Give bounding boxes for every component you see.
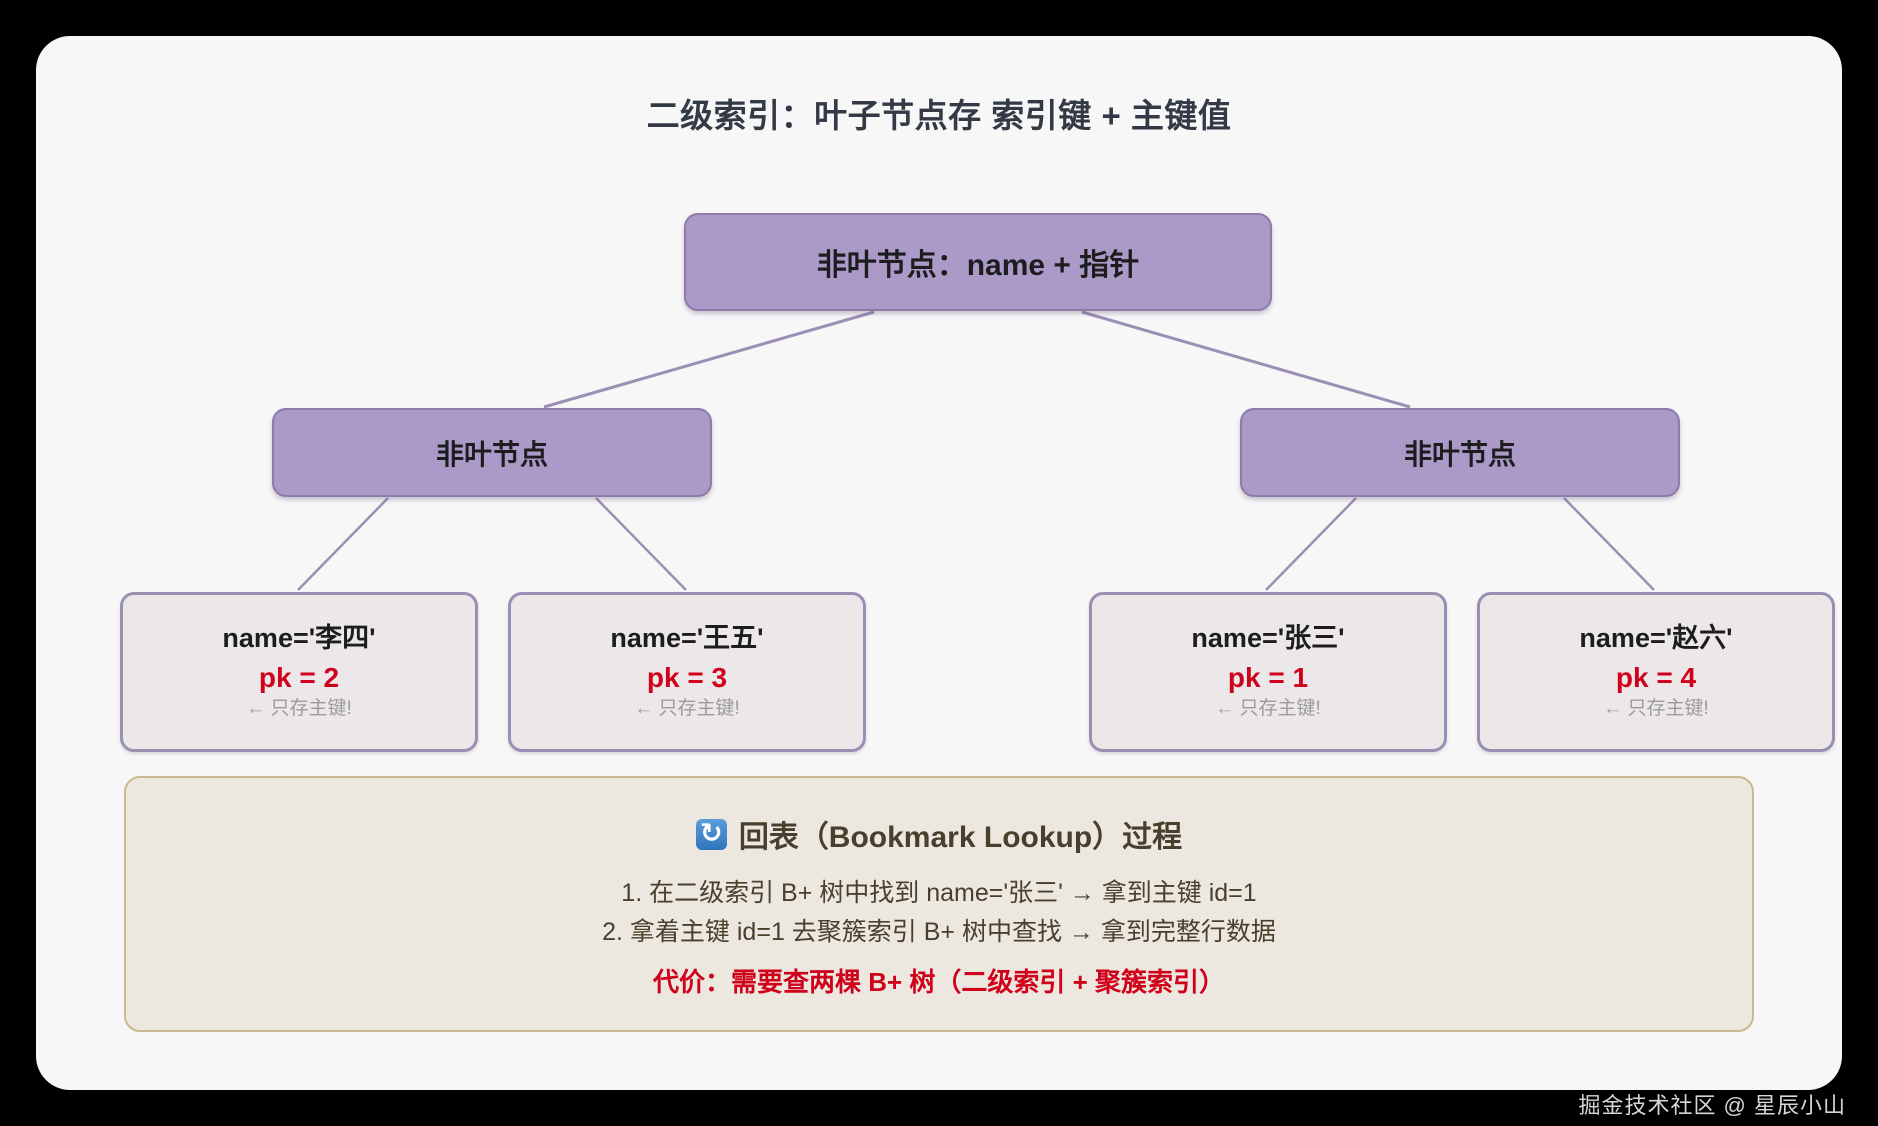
watermark: 掘金技术社区 @ 星辰小山 [1578,1088,1846,1120]
tree-node-branch-right[interactable]: 非叶节点 [1240,408,1680,497]
leaf-node[interactable]: name='赵六' pk = 4 ← 只存主键! [1477,592,1835,752]
leaf-node-note: ← 只存主键! [1215,699,1321,720]
lookup-step: 2. 拿着主键 id=1 去聚簇索引 B+ 树中查找 → 拿到完整行数据 [602,913,1276,952]
screenshot-canvas: 二级索引：叶子节点存 索引键 + 主键值 非叶节点：name + 指针 非叶节点… [0,0,1878,1126]
cycle-icon [696,819,727,850]
leaf-node[interactable]: name='李四' pk = 2 ← 只存主键! [120,592,478,752]
bookmark-lookup-panel: 回表（Bookmark Lookup）过程 1. 在二级索引 B+ 树中找到 n… [124,776,1754,1032]
bookmark-lookup-heading: 回表（Bookmark Lookup）过程 [696,812,1182,856]
bookmark-lookup-heading-label: 回表（Bookmark Lookup）过程 [739,812,1182,856]
diagram-card: 二级索引：叶子节点存 索引键 + 主键值 非叶节点：name + 指针 非叶节点… [36,36,1842,1090]
tree-node-branch-left-label: 非叶节点 [436,433,548,473]
leaf-node[interactable]: name='张三' pk = 1 ← 只存主键! [1089,592,1447,752]
leaf-node[interactable]: name='王五' pk = 3 ← 只存主键! [508,592,866,752]
leaf-node-name: name='赵六' [1579,624,1732,654]
leaf-node-pk: pk = 1 [1228,663,1308,694]
lookup-cost-note: 代价：需要查两棵 B+ 树（二级索引 + 聚簇索引） [653,966,1225,1000]
leaf-node-note: ← 只存主键! [634,699,740,720]
leaf-node-note: ← 只存主键! [1603,699,1709,720]
leaf-node-name: name='张三' [1191,624,1344,654]
leaf-node-note: ← 只存主键! [246,699,352,720]
leaf-node-pk: pk = 3 [647,663,727,694]
tree-node-root[interactable]: 非叶节点：name + 指针 [684,213,1272,311]
leaf-node-name: name='李四' [222,624,375,654]
leaf-node-pk: pk = 4 [1616,663,1696,694]
lookup-step: 1. 在二级索引 B+ 树中找到 name='张三' → 拿到主键 id=1 [621,874,1256,913]
page-title: 二级索引：叶子节点存 索引键 + 主键值 [36,89,1842,137]
leaf-node-name: name='王五' [610,624,763,654]
tree-node-branch-left[interactable]: 非叶节点 [272,408,712,497]
leaf-node-pk: pk = 2 [259,663,339,694]
tree-node-root-label: 非叶节点：name + 指针 [817,240,1140,284]
tree-node-branch-right-label: 非叶节点 [1404,433,1516,473]
